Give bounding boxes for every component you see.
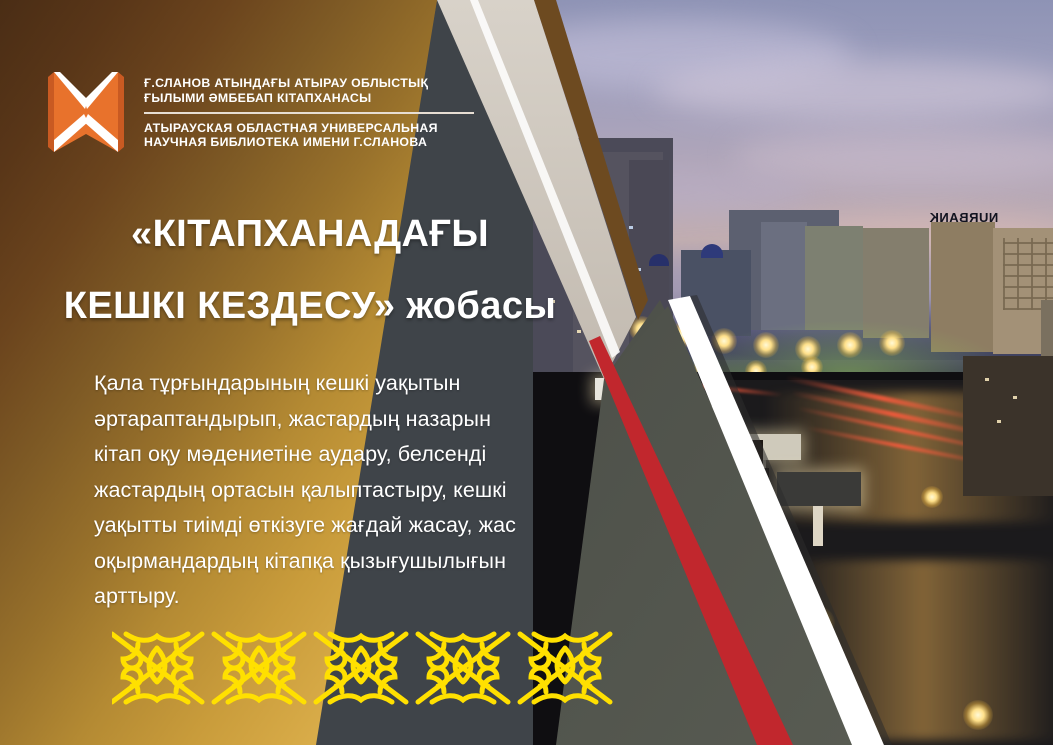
library-header: Ғ.СЛАНОВ АТЫНДАҒЫ АТЫРАУ ОБЛЫСТЫҚ ҒЫЛЫМИ…: [44, 64, 474, 160]
library-name-kazakh-line1: Ғ.СЛАНОВ АТЫНДАҒЫ АТЫРАУ ОБЛЫСТЫҚ: [144, 76, 474, 91]
description-line-6: оқырмандардың кітапқа қызығушылығын: [94, 544, 564, 580]
library-name-kazakh-line2: ҒЫЛЫМИ ӘМБЕБАП КІТАПХАНАСЫ: [144, 91, 474, 106]
open-book-butterfly-logo: [44, 64, 128, 160]
project-title: «КІТАПХАНАДАҒЫ КЕШКІ КЕЗДЕСУ» жобасы: [0, 198, 620, 342]
description-line-4: жастардың ортасын қалыптастыру, кешкі: [94, 473, 564, 509]
description-line-3: кітап оқу мәдениетіне аудару, белсенді: [94, 437, 564, 473]
project-title-line1: «КІТАПХАНАДАҒЫ: [0, 198, 620, 270]
kazakh-ornament-band: [112, 620, 652, 712]
description-line-2: әртараптандырып, жастардың назарын: [94, 402, 564, 438]
project-description: Қала тұрғындарының кешкі уақытын әртарап…: [94, 366, 564, 615]
description-line-5: уақытты тиімді өткізуге жағдай жасау, жа…: [94, 508, 564, 544]
description-line-1: Қала тұрғындарының кешкі уақытын: [94, 366, 564, 402]
poster: NURBANK: [0, 0, 1053, 745]
library-name-russian-line1: АТЫРАУСКАЯ ОБЛАСТНАЯ УНИВЕРСАЛЬНАЯ: [144, 121, 474, 136]
description-line-7: арттыру.: [94, 579, 564, 615]
library-name-russian-line2: НАУЧНАЯ БИБЛИОТЕКА ИМЕНИ Г.СЛАНОВА: [144, 135, 474, 150]
project-title-line2: КЕШКІ КЕЗДЕСУ» жобасы: [0, 270, 620, 342]
header-divider: [144, 112, 474, 114]
